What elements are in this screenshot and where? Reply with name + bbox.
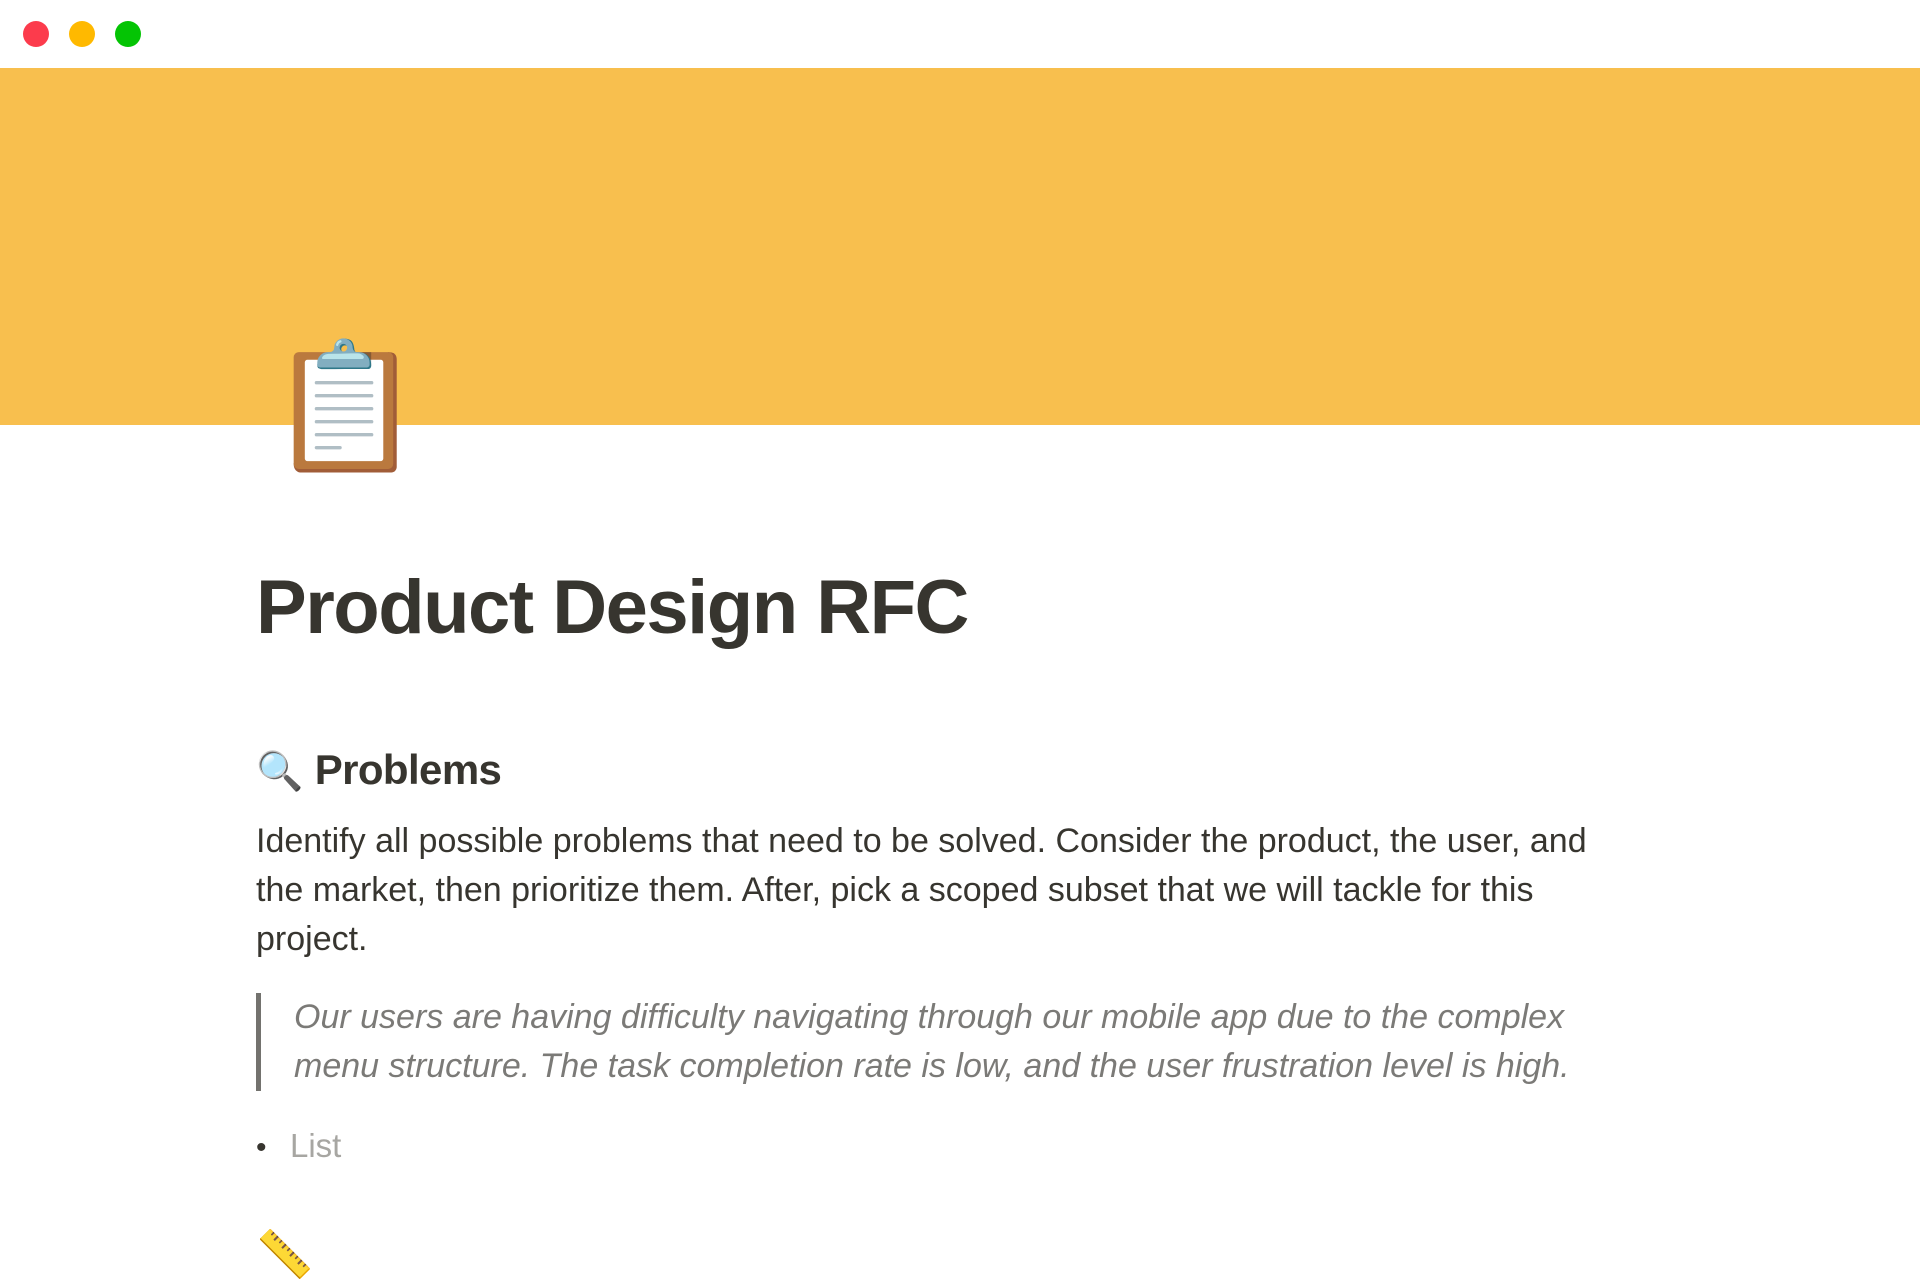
section-paragraph[interactable]: Identify all possible problems that need… xyxy=(256,817,1611,964)
clipboard-emoji[interactable]: 📋 xyxy=(268,337,408,477)
section-blockquote[interactable]: Our users are having difficulty navigati… xyxy=(256,993,1624,1091)
page-title[interactable]: Product Design RFC xyxy=(256,560,1686,656)
document-body: Product Design RFC 🔍 Problems Identify a… xyxy=(256,560,1686,1288)
window-titlebar xyxy=(0,0,1920,68)
section-heading-problems[interactable]: 🔍 Problems xyxy=(256,744,1686,797)
minimize-window-button[interactable] xyxy=(69,21,95,47)
list-item-placeholder[interactable]: List xyxy=(290,1124,341,1168)
close-window-button[interactable] xyxy=(23,21,49,47)
section-heading-label: Problems xyxy=(315,744,502,796)
traffic-light-group xyxy=(23,21,141,47)
maximize-window-button[interactable] xyxy=(115,21,141,47)
list-item[interactable]: • List xyxy=(256,1124,1686,1170)
ruler-emoji: 📏 xyxy=(256,1228,1686,1280)
trailing-block[interactable]: 📏 xyxy=(256,1228,1686,1288)
bullet-point-icon: • xyxy=(256,1126,290,1170)
bulleted-list: • List xyxy=(256,1124,1686,1170)
magnifying-glass-emoji: 🔍 xyxy=(256,745,303,797)
